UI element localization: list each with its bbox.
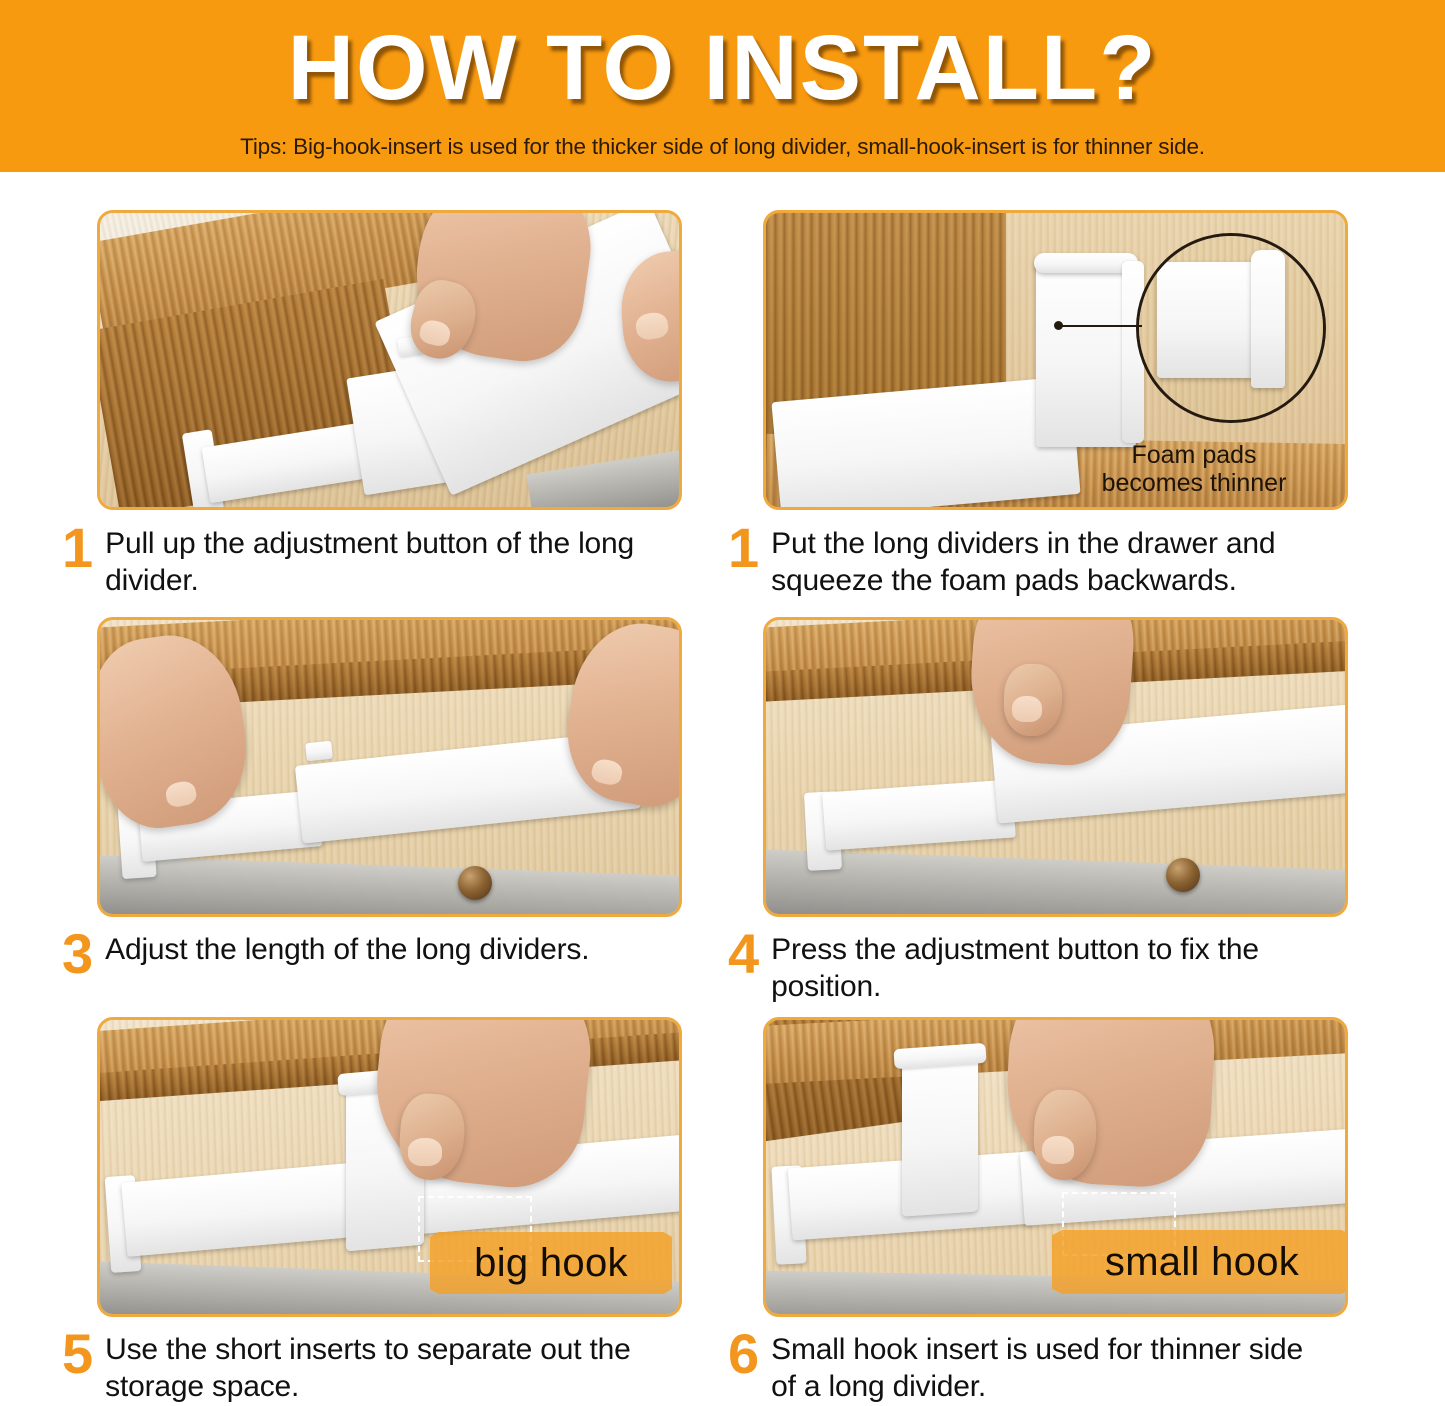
step-photo-5: big hook — [97, 1017, 682, 1317]
step-text-5: Use the short inserts to separate out th… — [105, 1328, 662, 1405]
photo-5: big hook — [100, 1020, 679, 1314]
step-caption-2: 1 Put the long dividers in the drawer an… — [728, 522, 1328, 599]
callout-magnifier — [1136, 233, 1326, 423]
small-hook-label: small hook — [1105, 1240, 1299, 1285]
drawer-knob-3 — [458, 866, 492, 900]
step-photo-1 — [97, 210, 682, 510]
long-divider-2-upright — [1036, 257, 1136, 447]
step-text-4: Press the adjustment button to fix the p… — [771, 928, 1328, 1005]
photo-1 — [100, 213, 679, 507]
fingernail-5 — [408, 1138, 442, 1166]
step-photo-6: small hook — [763, 1017, 1348, 1317]
adjustment-button-3 — [305, 741, 333, 762]
step-number-3: 3 — [62, 928, 93, 980]
big-hook-ribbon: big hook — [430, 1232, 672, 1294]
step-number-4: 4 — [728, 928, 759, 980]
small-hook-ribbon: small hook — [1052, 1230, 1345, 1294]
callout-leader-dot — [1054, 321, 1063, 330]
header-tip-text: Tips: Big-hook-insert is used for the th… — [0, 134, 1445, 160]
photo-2: Foam pads becomes thinner — [766, 213, 1345, 507]
callout-label: Foam pads becomes thinner — [1064, 441, 1324, 497]
step-number-6: 6 — [728, 1328, 759, 1380]
step-text-1: Pull up the adjustment button of the lon… — [105, 522, 662, 599]
fingernail-4 — [1012, 696, 1042, 722]
callout-label-line2: becomes thinner — [1064, 469, 1324, 497]
callout-foam-pad — [1251, 250, 1285, 388]
drawer-knob-4 — [1166, 858, 1200, 892]
fingernail-6 — [1042, 1136, 1074, 1164]
step-caption-3: 3 Adjust the length of the long dividers… — [62, 928, 662, 980]
step-photo-3 — [97, 617, 682, 917]
step-caption-4: 4 Press the adjustment button to fix the… — [728, 928, 1328, 1005]
step-text-2: Put the long dividers in the drawer and … — [771, 522, 1328, 599]
step-caption-1: 1 Pull up the adjustment button of the l… — [62, 522, 662, 599]
photo-4 — [766, 620, 1345, 914]
step-number-5: 5 — [62, 1328, 93, 1380]
step-caption-6: 6 Small hook insert is used for thinner … — [728, 1328, 1328, 1405]
step-text-3: Adjust the length of the long dividers. — [105, 928, 589, 969]
photo-3 — [100, 620, 679, 914]
short-insert-6 — [902, 1051, 978, 1216]
step-caption-5: 5 Use the short inserts to separate out … — [62, 1328, 662, 1405]
step-number-1: 1 — [62, 522, 93, 574]
header-banner: HOW TO INSTALL? Tips: Big-hook-insert is… — [0, 0, 1445, 172]
step-text-6: Small hook insert is used for thinner si… — [771, 1328, 1328, 1405]
callout-label-line1: Foam pads — [1064, 441, 1324, 469]
step-number-2: 1 — [728, 522, 759, 574]
step-photo-4 — [763, 617, 1348, 917]
big-hook-label: big hook — [474, 1241, 628, 1286]
photo-6: small hook — [766, 1020, 1345, 1314]
page-title: HOW TO INSTALL? — [0, 22, 1445, 114]
callout-leader-line — [1058, 325, 1142, 327]
step-photo-2: Foam pads becomes thinner — [763, 210, 1348, 510]
